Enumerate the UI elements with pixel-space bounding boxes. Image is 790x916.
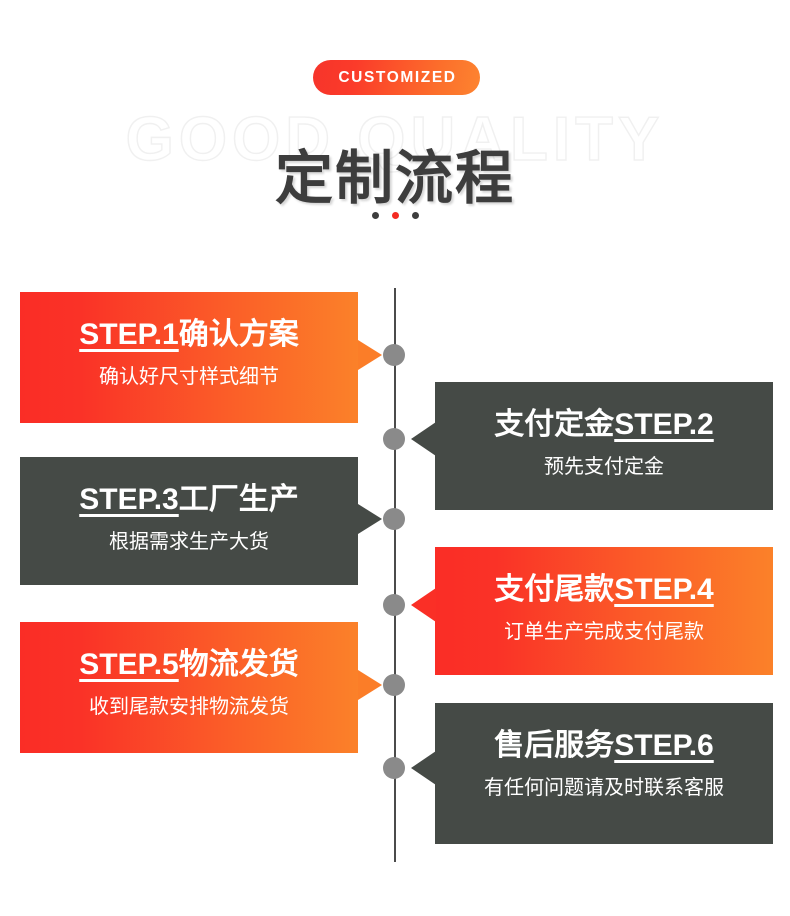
step-number-6: STEP.6 — [614, 729, 714, 762]
step-arrow-1 — [358, 340, 382, 370]
step-number-5: STEP.5 — [79, 648, 179, 681]
step-title-1: STEP.1确认方案 — [20, 318, 358, 353]
step-title-4: 支付尾款STEP.4 — [435, 573, 773, 608]
step-subtitle-6: 有任何问题请及时联系客服 — [435, 776, 773, 800]
dot-left — [372, 212, 379, 219]
timeline-node-2 — [383, 428, 405, 450]
step-arrow-2 — [411, 422, 436, 456]
step-number-3: STEP.3 — [79, 483, 179, 516]
page-title: 定制流程 — [0, 131, 790, 215]
step-card-3[interactable]: STEP.3工厂生产 根据需求生产大货 — [20, 457, 358, 585]
step-heading-3: 工厂生产 — [179, 483, 299, 516]
step-subtitle-3: 根据需求生产大货 — [20, 530, 358, 554]
title-dots — [0, 212, 790, 219]
step-arrow-5 — [358, 670, 382, 700]
step-arrow-3 — [358, 504, 382, 534]
customized-badge: CUSTOMIZED — [313, 60, 480, 95]
step-arrow-4 — [411, 588, 436, 622]
dot-right — [412, 212, 419, 219]
timeline-node-3 — [383, 508, 405, 530]
step-number-2: STEP.2 — [614, 408, 714, 441]
step-subtitle-1: 确认好尺寸样式细节 — [20, 365, 358, 389]
timeline-node-6 — [383, 757, 405, 779]
step-title-5: STEP.5物流发货 — [20, 648, 358, 683]
step-number-4: STEP.4 — [614, 573, 714, 606]
step-card-6[interactable]: 售后服务STEP.6 有任何问题请及时联系客服 — [435, 703, 773, 844]
timeline-node-4 — [383, 594, 405, 616]
step-subtitle-4: 订单生产完成支付尾款 — [435, 620, 773, 644]
step-title-3: STEP.3工厂生产 — [20, 483, 358, 518]
step-heading-5: 物流发货 — [179, 648, 299, 681]
step-arrow-6 — [411, 751, 436, 785]
step-heading-4: 支付尾款 — [494, 573, 614, 606]
step-card-2[interactable]: 支付定金STEP.2 预先支付定金 — [435, 382, 773, 510]
dot-center — [392, 212, 399, 219]
customization-process-page: CUSTOMIZED GOOD QUALITY 定制流程 STEP.1确认方案 … — [0, 0, 790, 916]
step-card-5[interactable]: STEP.5物流发货 收到尾款安排物流发货 — [20, 622, 358, 753]
step-heading-2: 支付定金 — [494, 408, 614, 441]
step-card-4[interactable]: 支付尾款STEP.4 订单生产完成支付尾款 — [435, 547, 773, 675]
step-number-1: STEP.1 — [79, 318, 179, 351]
step-subtitle-2: 预先支付定金 — [435, 455, 773, 479]
step-heading-1: 确认方案 — [179, 318, 299, 351]
timeline-node-1 — [383, 344, 405, 366]
step-title-6: 售后服务STEP.6 — [435, 729, 773, 764]
step-heading-6: 售后服务 — [494, 729, 614, 762]
timeline-node-5 — [383, 674, 405, 696]
step-card-1[interactable]: STEP.1确认方案 确认好尺寸样式细节 — [20, 292, 358, 423]
step-subtitle-5: 收到尾款安排物流发货 — [20, 695, 358, 719]
step-title-2: 支付定金STEP.2 — [435, 408, 773, 443]
